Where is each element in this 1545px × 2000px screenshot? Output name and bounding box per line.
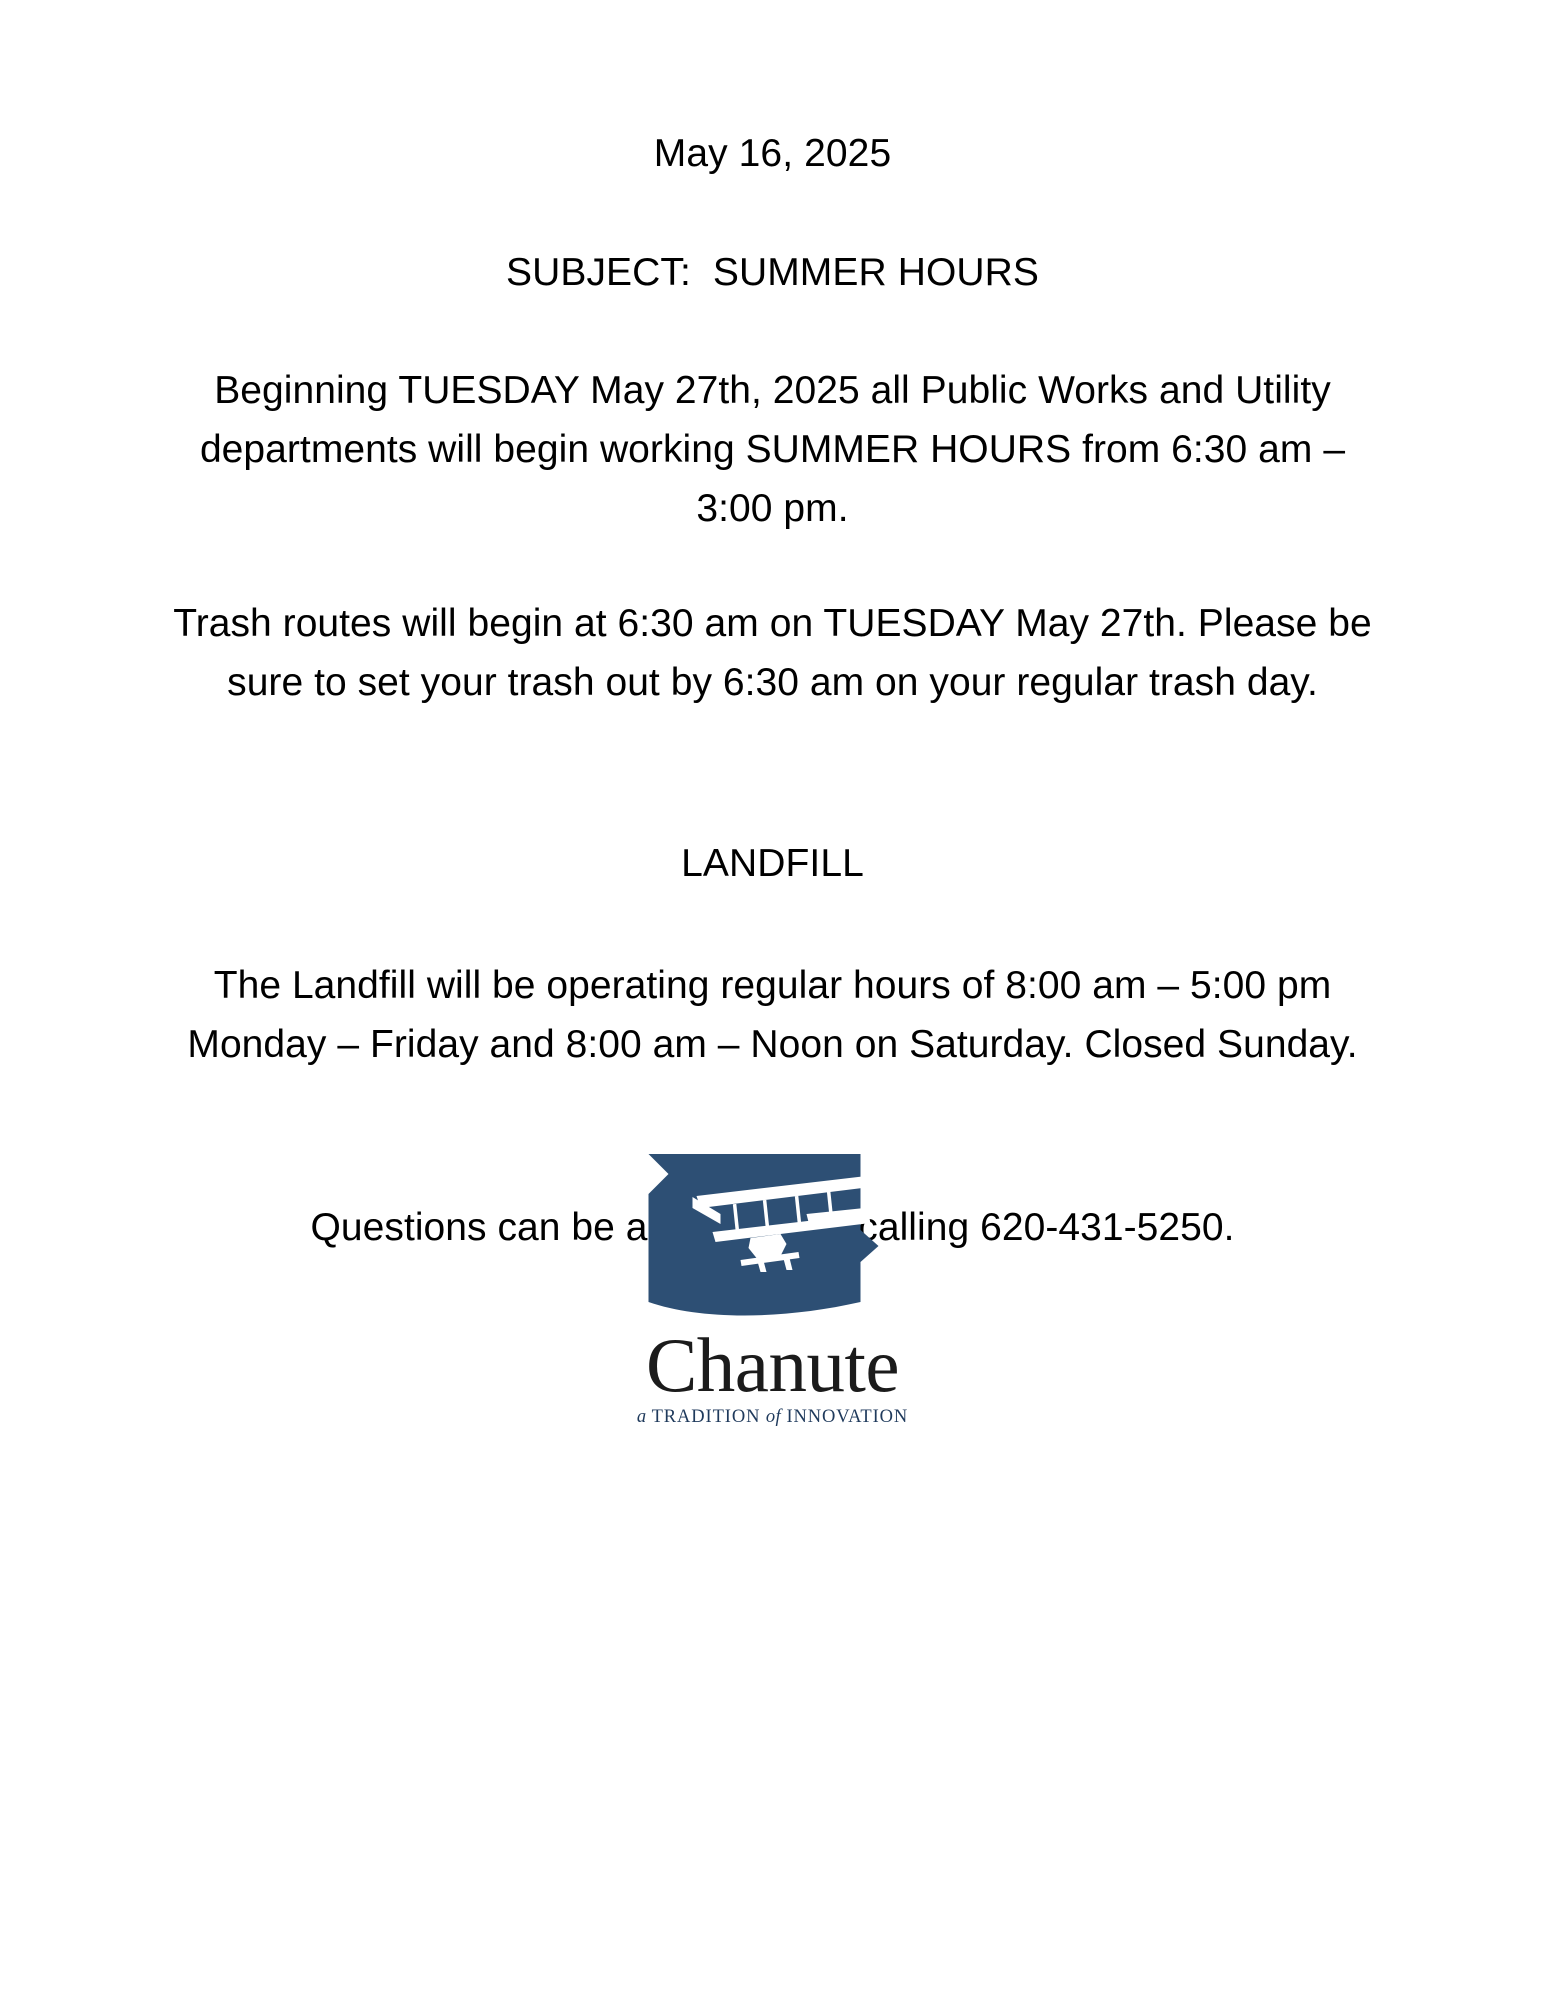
biplane-flag-icon [630, 1152, 915, 1322]
spacer [4, 712, 1541, 838]
spacer [4, 179, 1541, 247]
trash-routes-paragraph: Trash routes will begin at 6:30 am on TU… [158, 594, 1388, 713]
notice-subject: SUBJECT: SUMMER HOURS [4, 247, 1541, 298]
notice-date: May 16, 2025 [4, 128, 1541, 179]
spacer [4, 299, 1541, 361]
logo-tagline-prefix: a [637, 1407, 647, 1427]
logo-tagline-connector: of [766, 1407, 781, 1427]
spacer [4, 890, 1541, 956]
logo-tagline-word-1: TRADITION [652, 1407, 761, 1427]
spacer [4, 539, 1541, 594]
landfill-hours-paragraph: The Landfill will be operating regular h… [165, 956, 1380, 1075]
logo-tagline: a TRADITION of INNOVATION [630, 1407, 915, 1428]
summer-hours-paragraph: Beginning TUESDAY May 27th, 2025 all Pub… [178, 361, 1368, 539]
notice-body: May 16, 2025 SUBJECT: SUMMER HOURS Begin… [0, 0, 1545, 1254]
logo-wordmark: Chanute [630, 1328, 915, 1403]
notice-page: May 16, 2025 SUBJECT: SUMMER HOURS Begin… [0, 0, 1545, 2000]
landfill-heading: LANDFILL [4, 838, 1541, 889]
chanute-logo: Chanute a TRADITION of INNOVATION [630, 1152, 915, 1428]
logo-tagline-word-2: INNOVATION [786, 1407, 908, 1427]
